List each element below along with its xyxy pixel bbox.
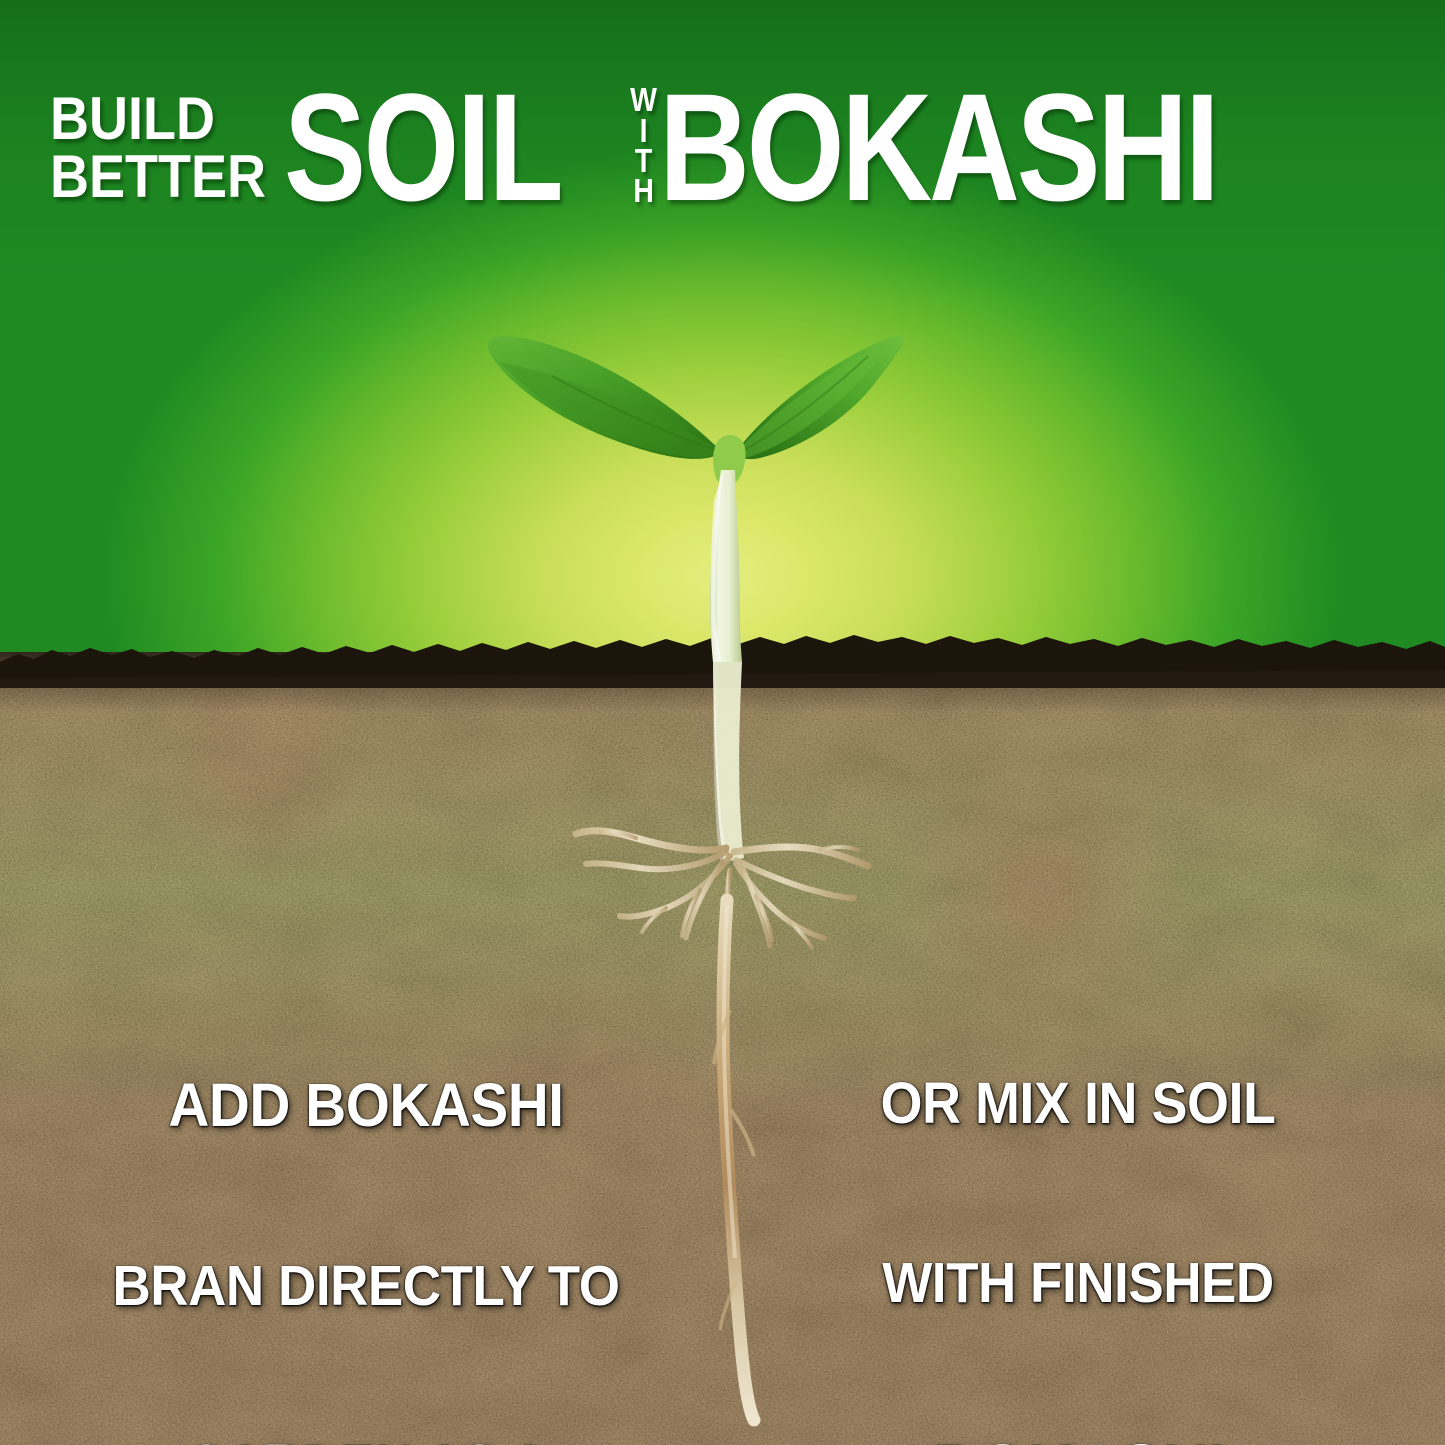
headline-build: BUILD (50, 90, 266, 148)
headline-with-letter-h: H (633, 176, 654, 206)
caption-right-line-3: BOKASHI (799, 1433, 1357, 1445)
caption-right-block: OR MIX IN SOIL WITH FINISHED BOKASHI COM… (799, 955, 1357, 1445)
caption-right-line-1: OR MIX IN SOIL (799, 1074, 1357, 1135)
headline-stacked-words: BUILD BETTER (50, 82, 266, 212)
bokashi-soil-poster: BUILD BETTER SOIL W I T H BOKASHI ADD BO… (0, 0, 1445, 1445)
headline-better: BETTER (50, 148, 266, 206)
caption-left-line-2: BRAN DIRECTLY TO (68, 1257, 663, 1317)
headline-soil: SOIL (284, 81, 561, 214)
caption-left-line-3: GARDEN AS A (68, 1436, 663, 1445)
soil-surface-line (0, 628, 1445, 688)
caption-right-line-2: WITH FINISHED (799, 1254, 1357, 1314)
poster-headline: BUILD BETTER SOIL W I T H BOKASHI (50, 82, 1410, 212)
caption-left-line-1: ADD BOKASHI (68, 1074, 663, 1138)
caption-left-block: ADD BOKASHI BRAN DIRECTLY TO GARDEN AS A… (68, 955, 663, 1445)
headline-bokashi: BOKASHI (659, 81, 1217, 214)
headline-with-vertical: W I T H (630, 82, 657, 210)
